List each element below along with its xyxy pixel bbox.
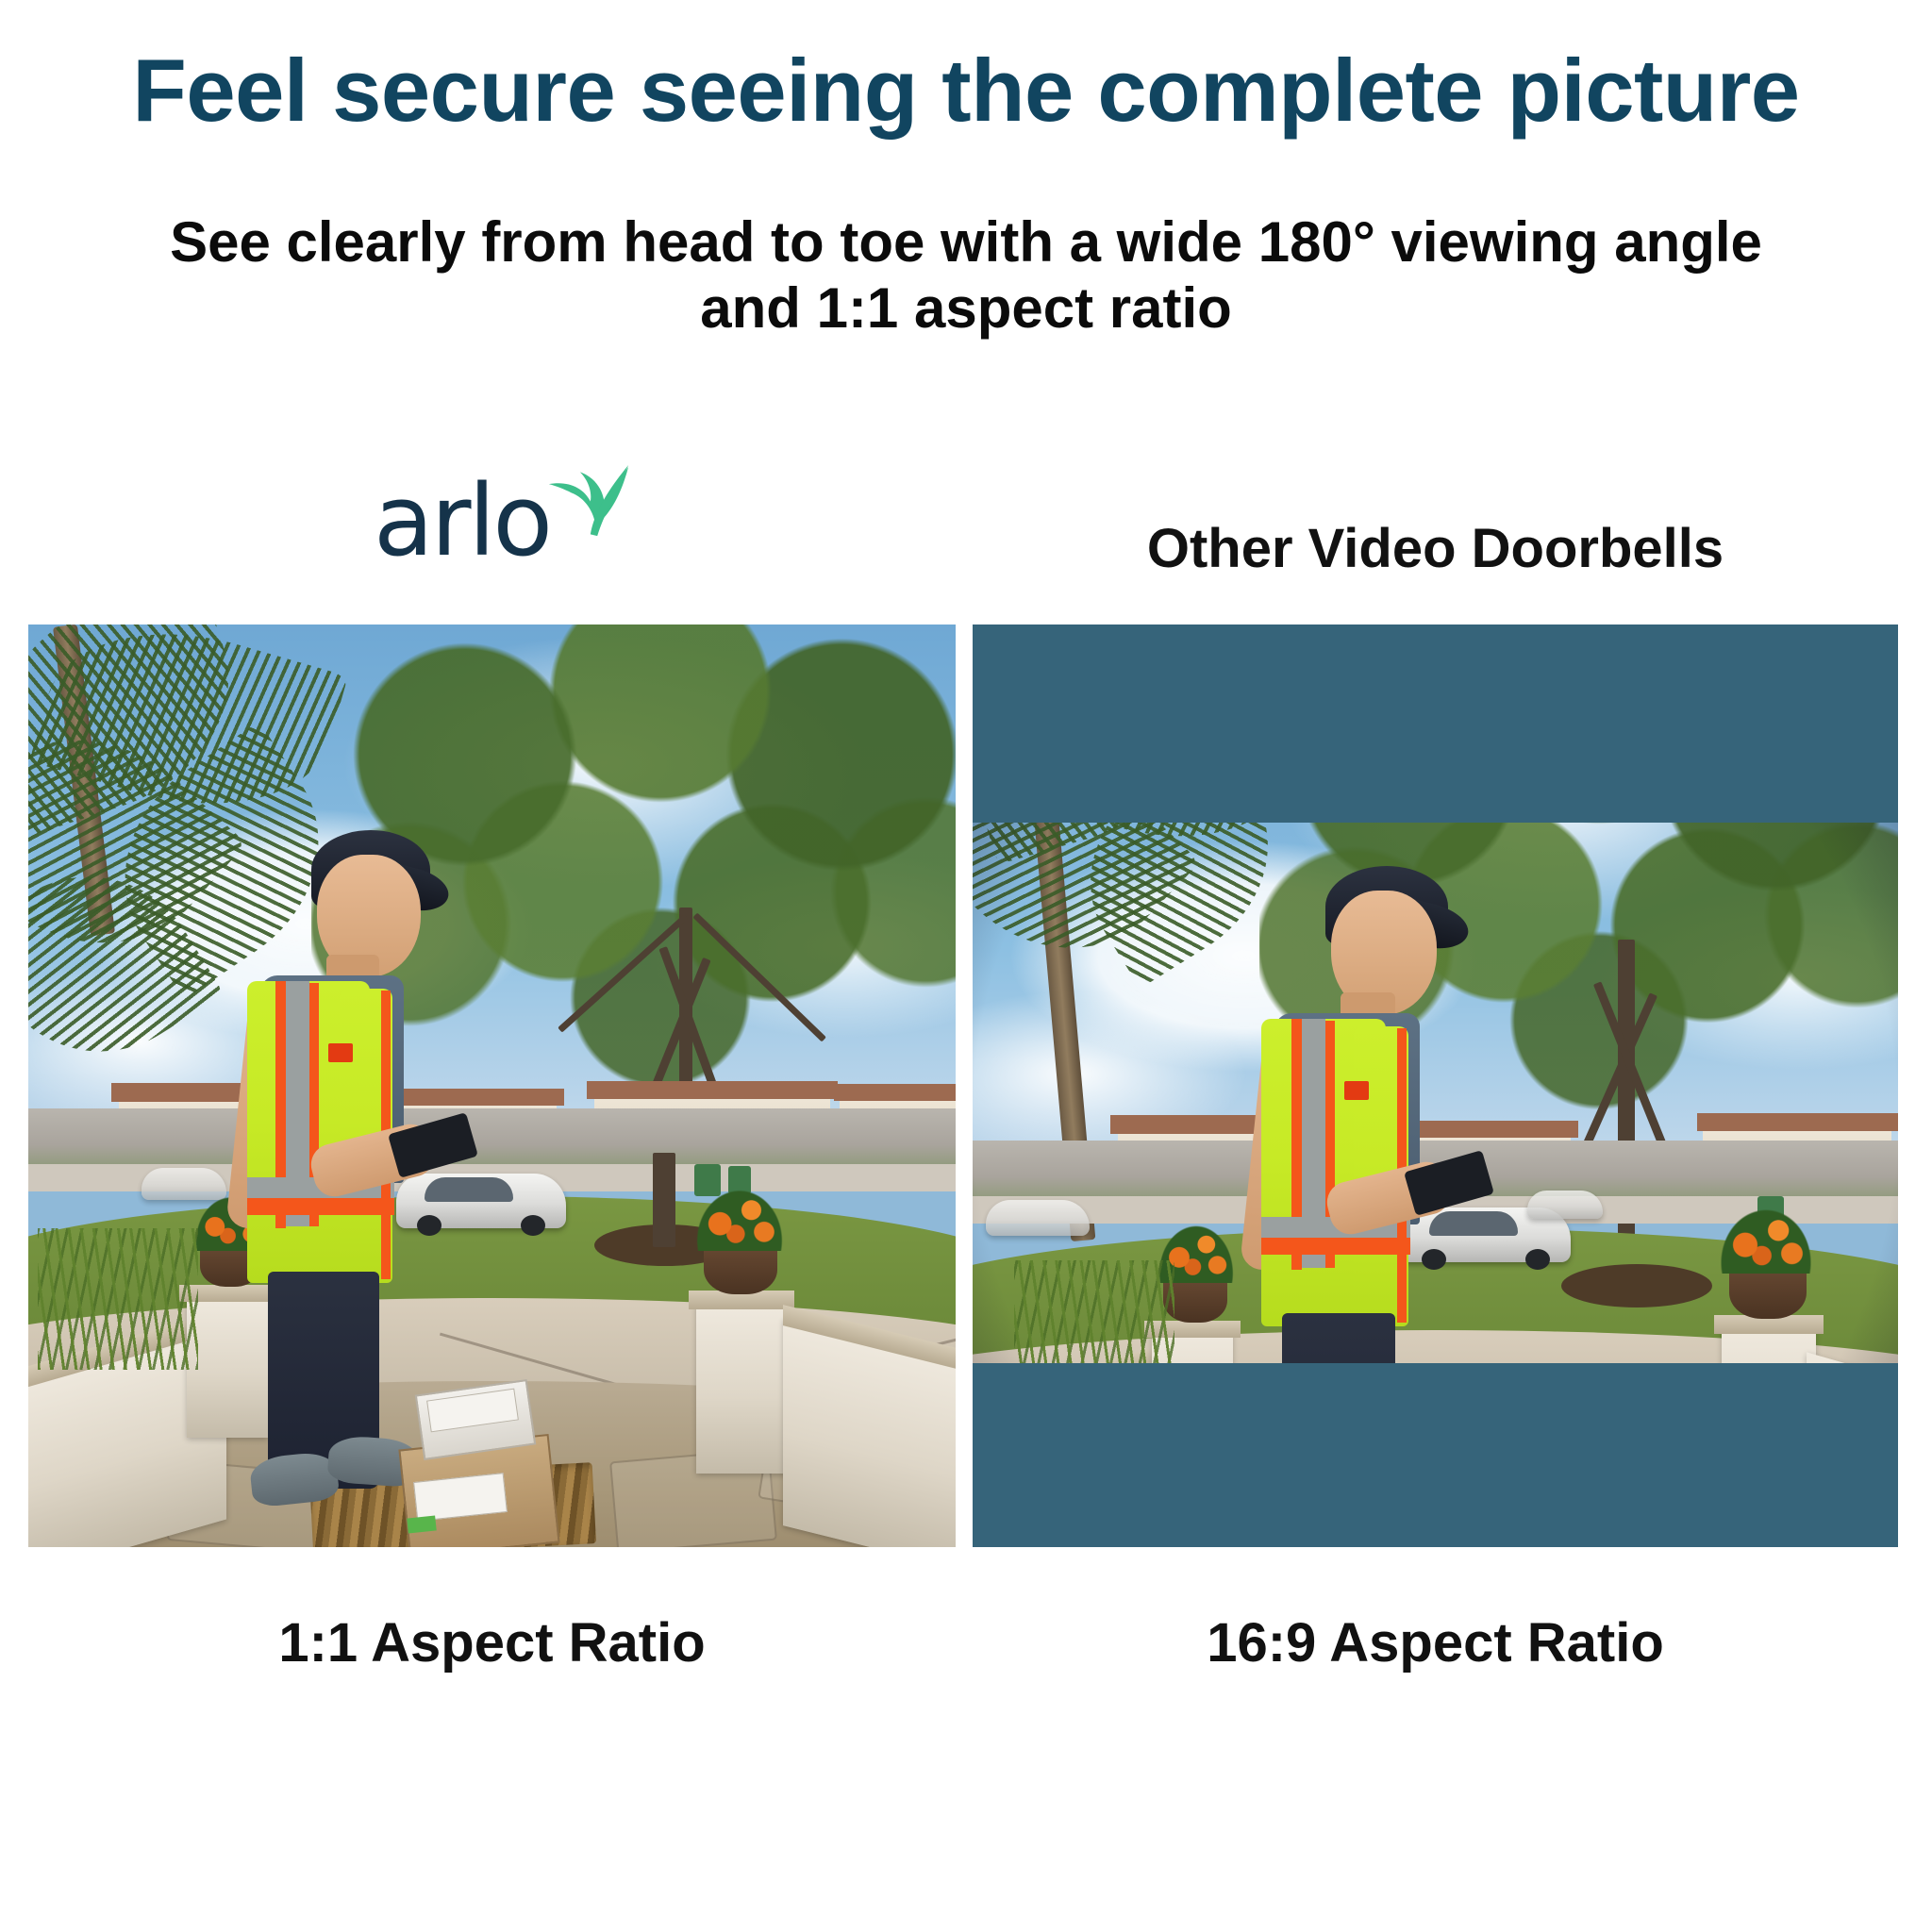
competitor-camera-view-16x9 [973,625,1898,1547]
street [28,1108,956,1169]
car-wheel [521,1215,545,1236]
arlo-wordmark: arlo [374,472,550,570]
planter-pillar-left [187,1296,268,1438]
arlo-logo: arlo [374,466,626,557]
tree-trunk [653,1153,675,1247]
house-roof [1697,1113,1898,1131]
parked-car [986,1200,1090,1236]
subheadline-line-1: See clearly from head to toe with a wide… [170,210,1762,274]
arlo-camera-view-1x1 [28,625,956,1547]
vest-orange-band [247,1198,394,1215]
potted-flowers [1714,1202,1818,1274]
page-subheadline: See clearly from head to toe with a wide… [0,209,1932,341]
tree-trunk [1618,940,1635,1279]
ornamental-grass [1014,1260,1174,1363]
parked-car [1527,1191,1603,1219]
doorbell-scene-full [28,625,956,1547]
car-wheel [1525,1249,1550,1270]
package-tape [407,1515,437,1533]
cropped-video-area [973,823,1898,1363]
car-window [1429,1211,1518,1236]
arlo-bird-icon [545,455,632,538]
vest-orange-band [1261,1238,1410,1255]
vest-patch [328,1043,353,1062]
car-window [425,1177,513,1202]
vest-patch [1344,1081,1369,1100]
letterbox-bar-top [973,625,1898,823]
competitor-label: Other Video Doorbells [973,517,1898,580]
subheadline-line-2: and 1:1 aspect ratio [0,275,1932,341]
car-wheel [417,1215,441,1236]
planter-pillar-right [696,1304,787,1474]
house-roof [834,1084,956,1101]
person-pants [1282,1313,1395,1363]
house-roof [587,1081,838,1099]
page-headline: Feel secure seeing the complete picture [0,43,1932,138]
ornamental-grass [38,1228,198,1370]
caption-arlo-aspect-ratio: 1:1 Aspect Ratio [28,1611,956,1674]
caption-competitor-aspect-ratio: 16:9 Aspect Ratio [973,1611,1898,1674]
tree-mulch [1561,1264,1712,1307]
car-wheel [1422,1249,1446,1270]
letterbox-bar-bottom [973,1363,1898,1547]
potted-flowers [691,1183,789,1251]
doorbell-scene-cropped [973,823,1898,1363]
